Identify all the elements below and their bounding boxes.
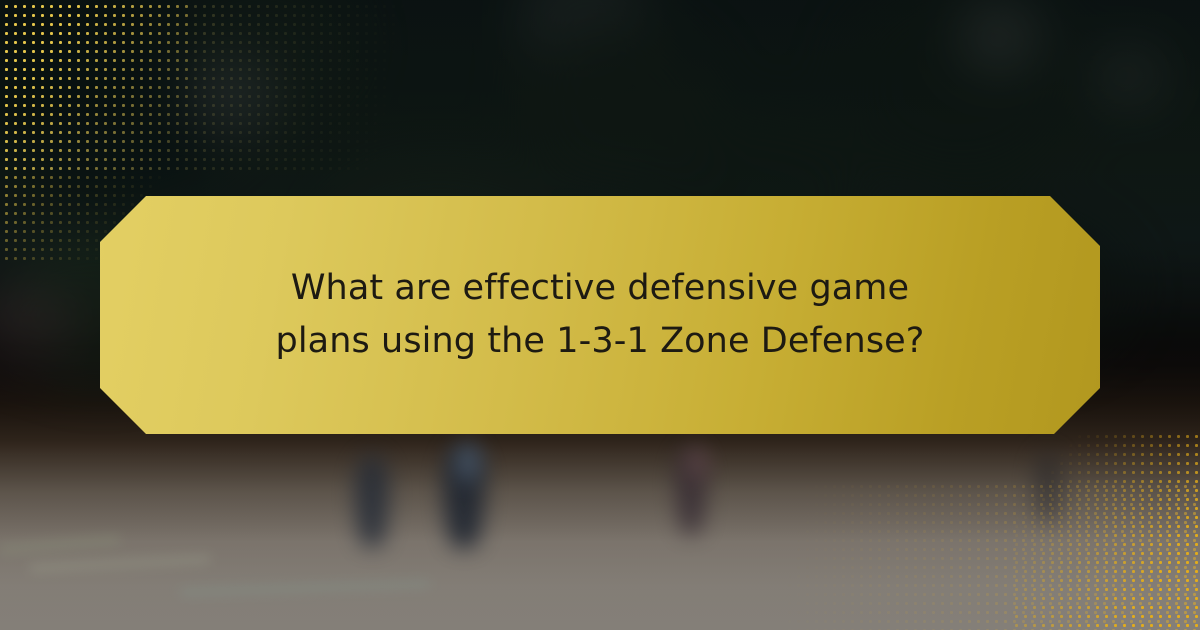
question-text: What are effective defensive game plans … [250,262,950,368]
question-card: What are effective defensive game plans … [100,196,1100,434]
question-card-graphic: What are effective defensive game plans … [0,0,1200,630]
